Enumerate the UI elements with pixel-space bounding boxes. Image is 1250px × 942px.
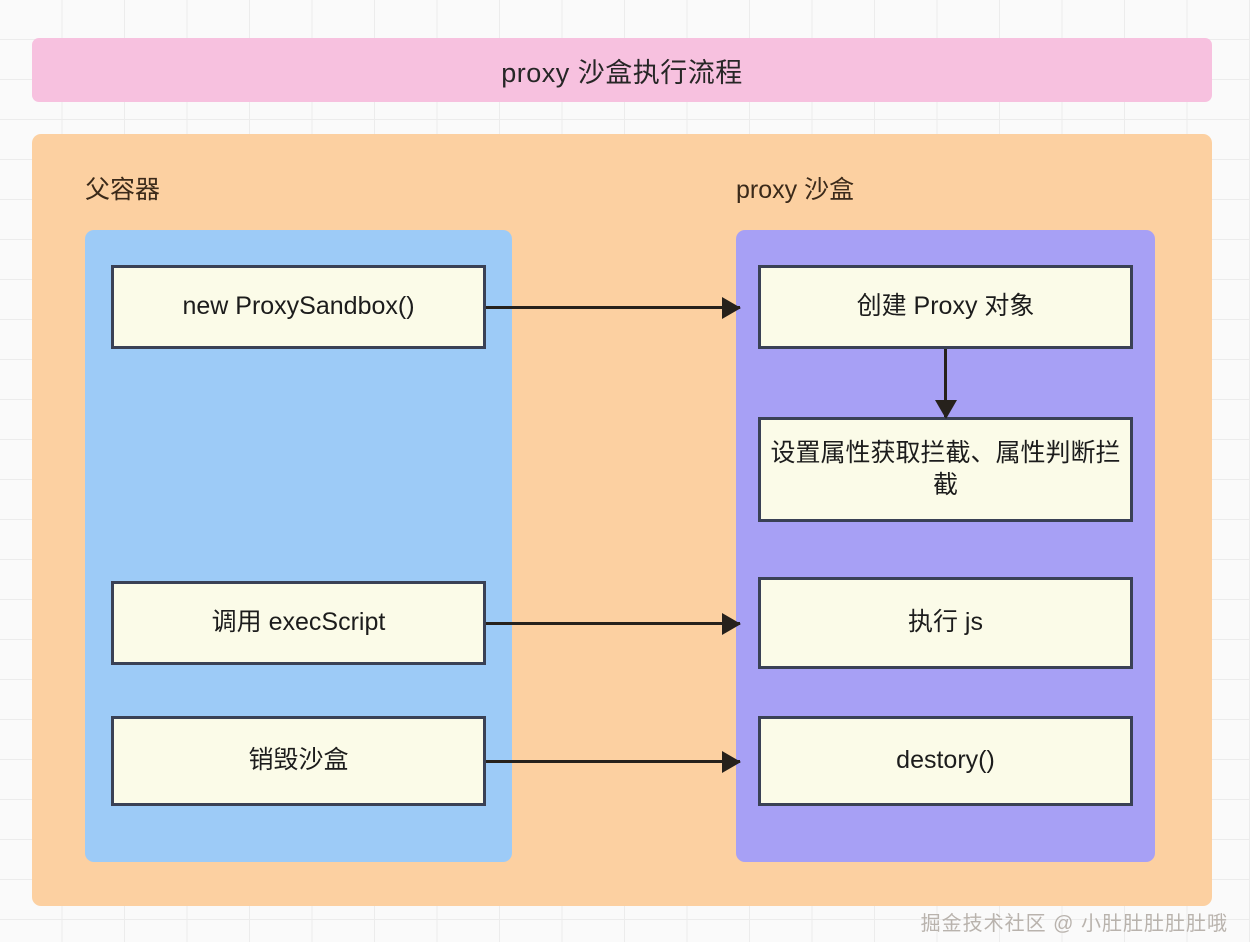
node-execute-js[interactable]: 执行 js [758,577,1133,669]
lane-label-parent: 父容器 [85,170,160,206]
arrow-new-to-create-icon [486,306,740,309]
diagram-title-banner: proxy 沙盒执行流程 [32,38,1212,102]
node-destory-function[interactable]: destory() [758,716,1133,806]
node-new-proxy-sandbox[interactable]: new ProxySandbox() [111,265,486,349]
arrow-exec-to-js-icon [486,622,740,625]
node-set-traps[interactable]: 设置属性获取拦截、属性判断拦截 [758,417,1133,522]
lane-label-sandbox: proxy 沙盒 [736,170,854,206]
outer-container: 父容器 proxy 沙盒 new ProxySandbox() 调用 execS… [32,134,1212,906]
watermark: 掘金技术社区 @ 小肚肚肚肚肚哦 [921,907,1228,936]
diagram-canvas: proxy 沙盒执行流程 父容器 proxy 沙盒 new ProxySandb… [0,0,1250,942]
node-call-exec-script[interactable]: 调用 execScript [111,581,486,665]
node-destroy-sandbox[interactable]: 销毁沙盒 [111,716,486,806]
page-title: proxy 沙盒执行流程 [501,51,743,90]
arrow-destroy-to-destory-icon [486,760,740,763]
node-create-proxy-object[interactable]: 创建 Proxy 对象 [758,265,1133,349]
arrow-create-to-traps-icon [944,349,947,417]
